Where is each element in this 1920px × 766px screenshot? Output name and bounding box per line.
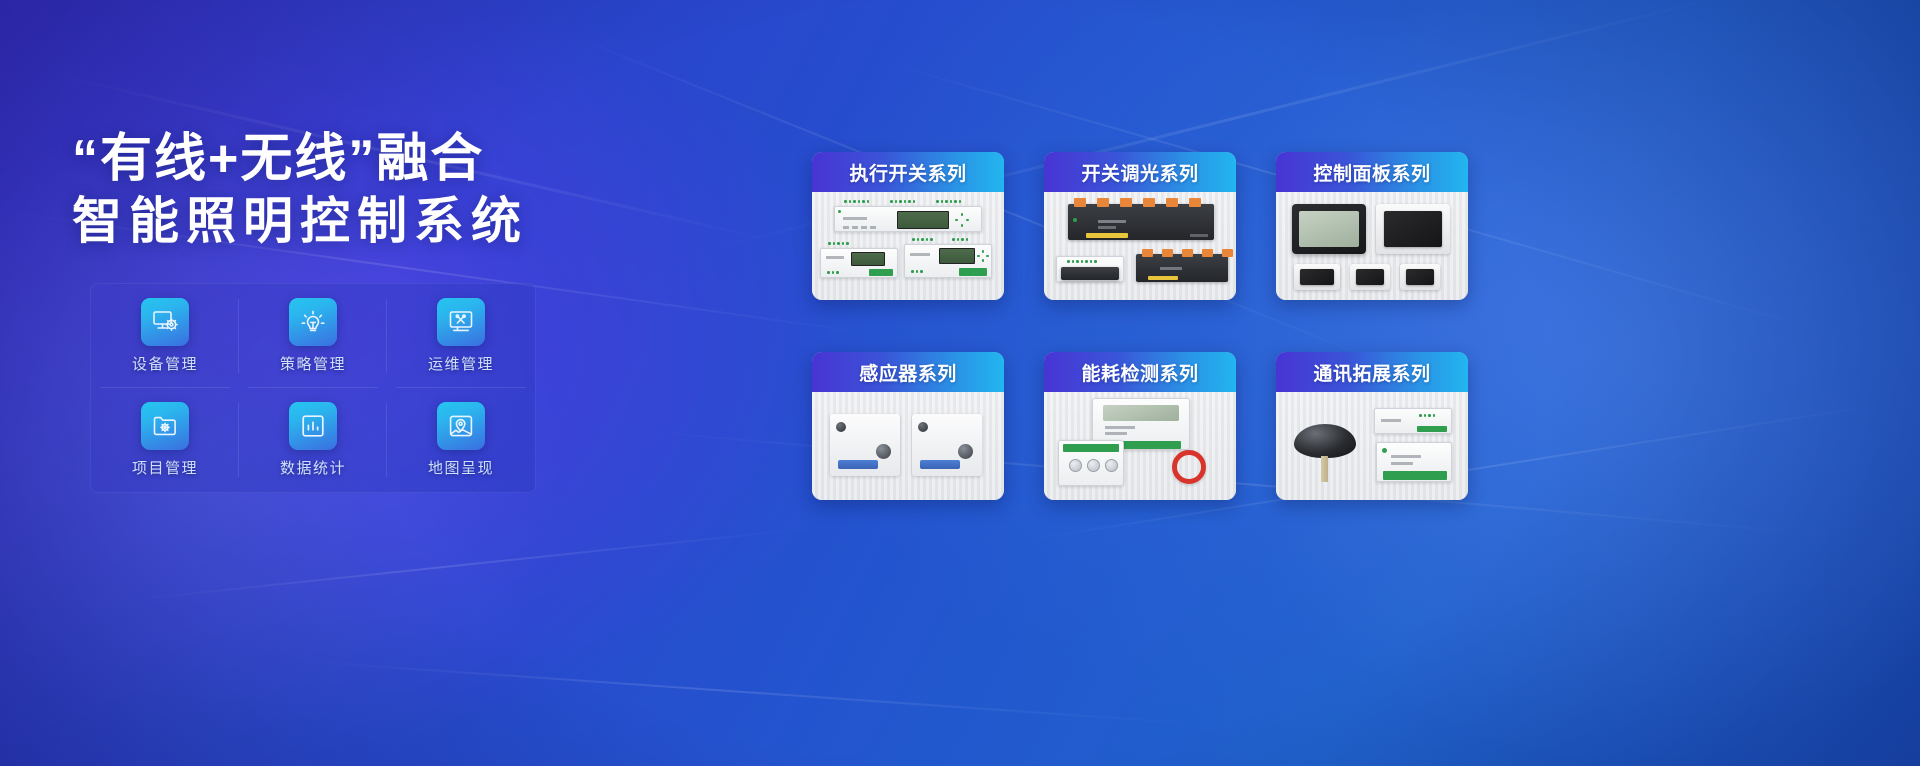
product-card-dimmer[interactable]: 开关调光系列 — [1044, 152, 1236, 300]
product-photo-sensor — [812, 392, 1004, 500]
product-card-title: 感应器系列 — [812, 352, 1004, 392]
antenna-dome — [1294, 424, 1356, 458]
feature-item-project-management[interactable]: 项目管理 — [91, 388, 239, 492]
feature-item-strategy-management[interactable]: 策略管理 — [239, 284, 387, 388]
map-pin-icon — [437, 402, 485, 450]
feature-grid: 设备管理 策略管理 — [90, 283, 536, 493]
product-card-title: 能耗检测系列 — [1044, 352, 1236, 392]
product-photo-switch-relay — [812, 192, 1004, 300]
feature-item-operations-management[interactable]: 运维管理 — [387, 284, 535, 388]
feature-item-device-management[interactable]: 设备管理 — [91, 284, 239, 388]
product-card-title: 开关调光系列 — [1044, 152, 1236, 192]
product-card-communication[interactable]: 通讯拓展系列 — [1276, 352, 1468, 500]
headline: “有线+无线”融合 智能照明控制系统 — [72, 128, 612, 252]
product-card-energy-meter[interactable]: 能耗检测系列 — [1044, 352, 1236, 500]
product-photo-dimmer — [1044, 192, 1236, 300]
product-card-title: 执行开关系列 — [812, 152, 1004, 192]
feature-label: 地图呈现 — [428, 457, 494, 478]
product-card-sensor[interactable]: 感应器系列 — [812, 352, 1004, 500]
left-panel: “有线+无线”融合 智能照明控制系统 设备管理 — [0, 0, 640, 766]
headline-line-2: 智能照明控制系统 — [72, 190, 612, 252]
current-transformer — [1172, 450, 1206, 484]
feature-label: 设备管理 — [132, 353, 198, 374]
feature-label: 运维管理 — [428, 353, 494, 374]
product-photo-communication — [1276, 392, 1468, 500]
product-photo-energy-meter — [1044, 392, 1236, 500]
product-card-grid: 执行开关系列 — [812, 152, 1872, 500]
product-card-switch-relay[interactable]: 执行开关系列 — [812, 152, 1004, 300]
screen-tools-icon — [437, 298, 485, 346]
feature-label: 项目管理 — [132, 457, 198, 478]
monitor-gear-icon — [141, 298, 189, 346]
feature-label: 数据统计 — [280, 457, 346, 478]
bar-chart-icon — [289, 402, 337, 450]
feature-item-map-display[interactable]: 地图呈现 — [387, 388, 535, 492]
headline-line-1: “有线+无线”融合 — [72, 128, 612, 190]
product-card-control-panel[interactable]: 控制面板系列 — [1276, 152, 1468, 300]
product-card-title: 控制面板系列 — [1276, 152, 1468, 192]
folder-gear-icon — [141, 402, 189, 450]
antenna-stem — [1321, 456, 1328, 482]
product-card-title: 通讯拓展系列 — [1276, 352, 1468, 392]
feature-item-data-statistics[interactable]: 数据统计 — [239, 388, 387, 492]
feature-label: 策略管理 — [280, 353, 346, 374]
lightbulb-icon — [289, 298, 337, 346]
product-photo-control-panel — [1276, 192, 1468, 300]
